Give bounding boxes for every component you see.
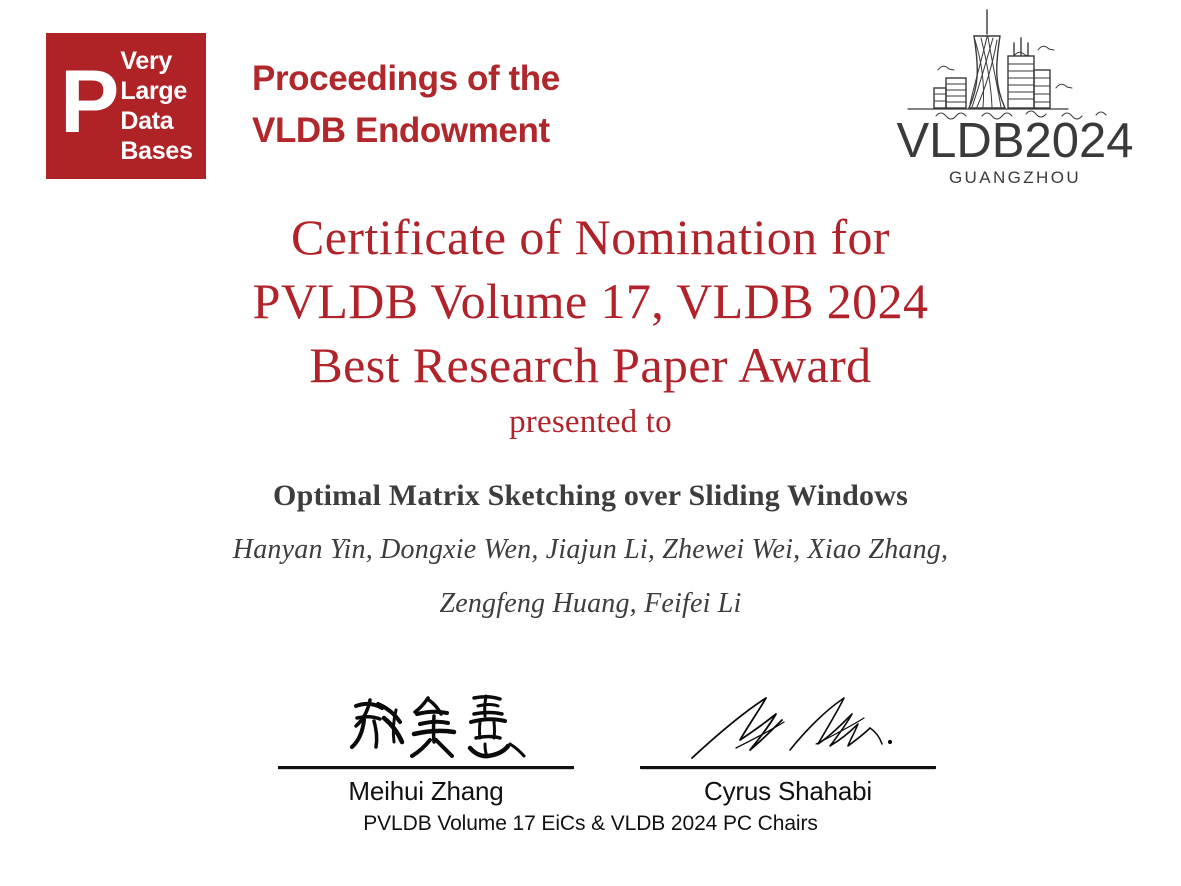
presented-to-label: presented to [0,399,1181,445]
pvldb-logo: P Very Large Data Bases [46,33,206,179]
certificate-title-line-1: Certificate of Nomination for [0,205,1181,269]
signatory-name-right: Cyrus Shahabi [640,773,936,809]
author-list-line-1: Hanyan Yin, Dongxie Wen, Jiajun Li, Zhew… [0,523,1181,577]
proceedings-heading-line1: Proceedings of the [252,53,560,105]
signature-mark-meihui-zhang [278,688,574,766]
pvldb-logo-line-very: Very [120,46,192,76]
signature-mark-cyrus-shahabi [640,688,936,766]
guangzhou-skyline-icon [890,8,1140,126]
signature-block-left: Meihui Zhang [278,688,574,809]
signature-block-right: Cyrus Shahabi [640,688,936,809]
proceedings-heading-line2: VLDB Endowment [252,105,560,157]
pvldb-logo-line-bases: Bases [120,136,192,166]
vldb2024-conference-logo: VLDB2024 GUANGZHOU [880,8,1150,188]
pvldb-logo-p-letter: P [60,58,117,144]
pvldb-logo-words: Very Large Data Bases [120,46,192,166]
certificate-title-line-2: PVLDB Volume 17, VLDB 2024 [0,269,1181,333]
signature-rule-right [640,766,936,769]
handwritten-signature-icon [278,688,574,766]
pvldb-logo-line-large: Large [120,76,192,106]
recipient-block: Optimal Matrix Sketching over Sliding Wi… [0,475,1181,631]
certificate-header: P Very Large Data Bases Proceedings of t… [0,0,1181,195]
vldb2024-city-label: GUANGZHOU [880,168,1150,188]
proceedings-heading: Proceedings of the VLDB Endowment [252,53,560,157]
author-list-line-2: Zengfeng Huang, Feifei Li [0,577,1181,631]
handwritten-signature-icon [640,688,936,766]
paper-title: Optimal Matrix Sketching over Sliding Wi… [0,475,1181,517]
pvldb-logo-line-data: Data [120,106,192,136]
certificate-title-block: Certificate of Nomination for PVLDB Volu… [0,205,1181,445]
signature-section: Meihui Zhang Cyrus Shahabi [0,688,1181,808]
vldb2024-wordmark: VLDB2024 [880,116,1150,166]
signatory-name-left: Meihui Zhang [278,773,574,809]
signature-rule-left [278,766,574,769]
author-list: Hanyan Yin, Dongxie Wen, Jiajun Li, Zhew… [0,523,1181,631]
signatory-roles-caption: PVLDB Volume 17 EiCs & VLDB 2024 PC Chai… [0,812,1181,836]
certificate-title-line-3: Best Research Paper Award [0,333,1181,397]
certificate-page: P Very Large Data Bases Proceedings of t… [0,0,1181,886]
